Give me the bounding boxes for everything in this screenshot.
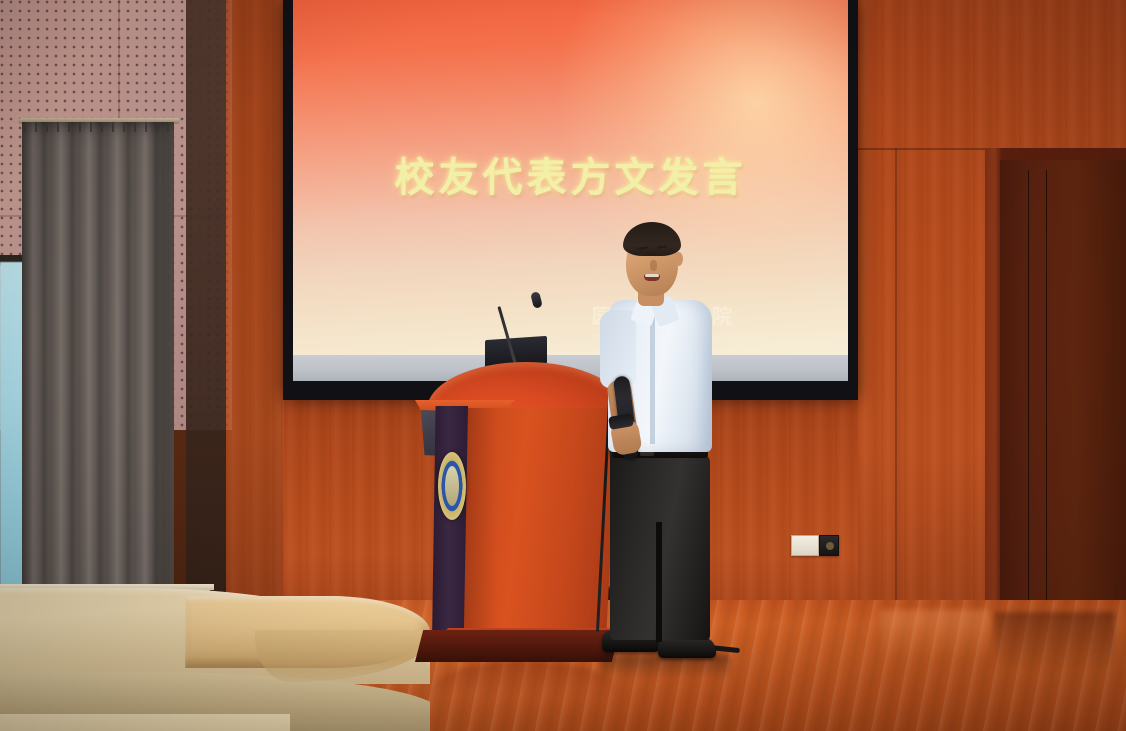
wood-wall-seam bbox=[895, 148, 897, 640]
light-switch-panel[interactable] bbox=[791, 535, 819, 556]
floor-reflection-door bbox=[995, 612, 1115, 672]
slide-title: 校友代表方文发言 bbox=[293, 145, 848, 203]
speaker-person bbox=[596, 222, 726, 672]
floor-reflection-wall bbox=[880, 610, 990, 660]
curtain-hooks bbox=[24, 122, 174, 132]
door-groove bbox=[1046, 170, 1047, 640]
speaker-teeth bbox=[645, 274, 659, 277]
exit-door[interactable] bbox=[1000, 160, 1126, 640]
wall-pillar bbox=[186, 0, 226, 625]
auditorium-photo: 校友代表方文发言 园艺园林学院 College of Horticulture … bbox=[0, 0, 1126, 731]
speaker-shirt-placket bbox=[650, 314, 655, 444]
av-socket-panel[interactable] bbox=[819, 535, 839, 556]
stage-curtain[interactable] bbox=[22, 122, 174, 625]
projection-screen-surface[interactable]: 校友代表方文发言 园艺园林学院 College of Horticulture … bbox=[293, 0, 848, 381]
wall-socket-plate[interactable] bbox=[791, 535, 839, 556]
speaker-ear bbox=[674, 252, 683, 266]
university-crest-icon bbox=[438, 452, 466, 520]
speaker-nose bbox=[650, 260, 657, 271]
podium-left-column bbox=[432, 406, 468, 642]
projection-screen-frame: 校友代表方文发言 园艺园林学院 College of Horticulture … bbox=[283, 0, 858, 400]
speaker-leg-separation bbox=[656, 522, 662, 642]
wood-wall-left-strip bbox=[226, 0, 284, 620]
step-lower-tread bbox=[0, 714, 290, 731]
door-groove bbox=[1028, 170, 1029, 640]
podium-base-plinth bbox=[415, 630, 620, 662]
university-crest-inner bbox=[445, 466, 459, 506]
speaker-hair bbox=[623, 222, 681, 256]
